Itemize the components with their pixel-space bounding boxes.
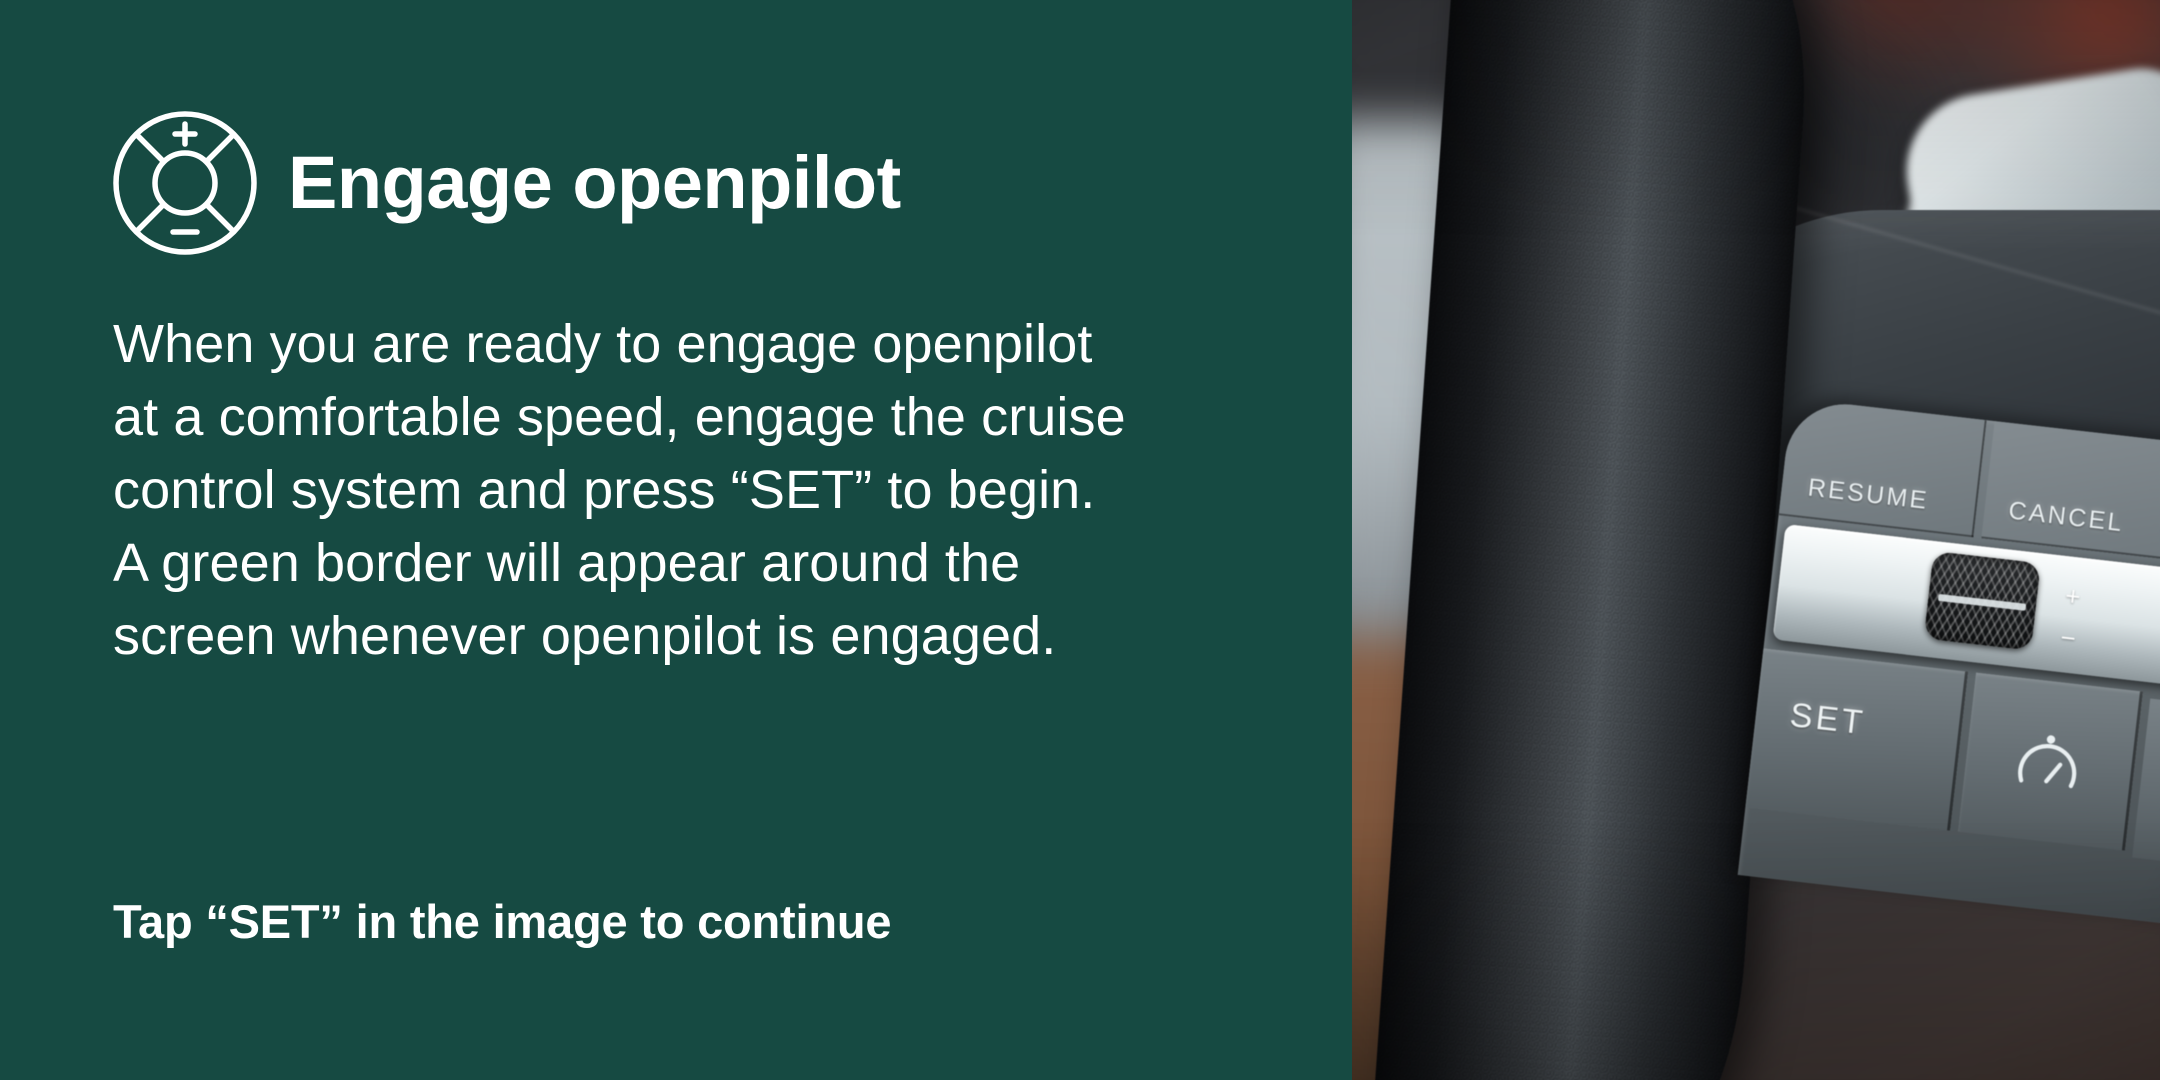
body-line: A green border will appear around the (113, 527, 1293, 600)
steering-wheel-photo[interactable]: RESUME CANCEL + − SET (1352, 0, 2160, 1080)
page-title: Engage openpilot (288, 146, 901, 220)
resume-button[interactable]: RESUME (1779, 398, 1987, 537)
cruise-control-button-pod: RESUME CANCEL + − SET (1738, 398, 2160, 925)
body-line: at a comfortable speed, engage the cruis… (113, 381, 1293, 454)
panel-header: Engage openpilot (112, 108, 901, 258)
resume-button-label: RESUME (1806, 473, 1930, 516)
set-button-label: SET (1788, 696, 1868, 743)
speed-thumbwheel[interactable] (1924, 551, 2041, 651)
rocker-minus-label: − (2059, 624, 2077, 652)
rocker-plus-label: + (2064, 582, 2082, 610)
continue-prompt: Tap “SET” in the image to continue (113, 898, 891, 945)
body-line: When you are ready to engage openpilot (113, 308, 1293, 381)
body-line: screen whenever openpilot is engaged. (113, 600, 1293, 673)
body-line: control system and press “SET” to begin. (113, 454, 1293, 527)
set-button[interactable]: SET (1745, 648, 1968, 830)
cancel-button[interactable]: CANCEL (1981, 421, 2160, 565)
tutorial-screen: Engage openpilot When you are ready to e… (0, 0, 2160, 1080)
instruction-body: When you are ready to engage openpilot a… (113, 308, 1293, 673)
instruction-panel: Engage openpilot When you are ready to e… (0, 0, 1352, 1080)
cancel-button-label: CANCEL (2007, 496, 2125, 538)
cruise-control-dial-icon (112, 110, 258, 256)
cruise-gauge-button[interactable] (1958, 673, 2143, 851)
cruise-gauge-icon (2006, 719, 2090, 803)
